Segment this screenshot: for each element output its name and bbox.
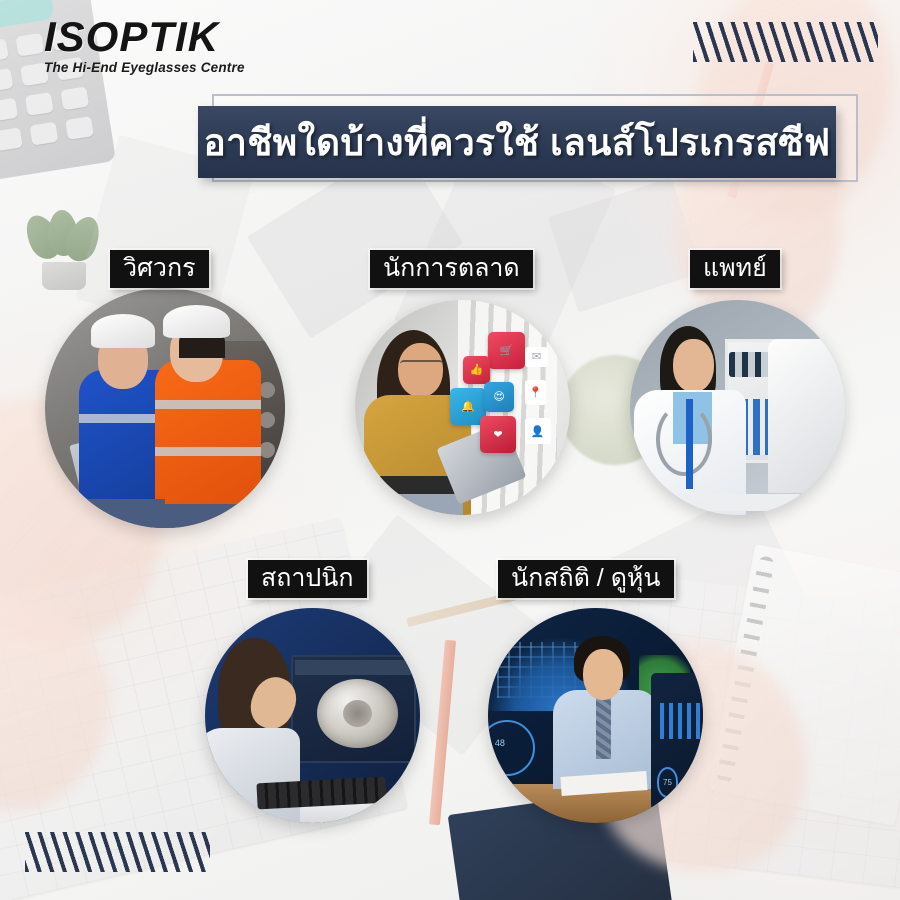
gauge-value: 48 [689, 767, 703, 797]
title-banner: อาชีพใดบ้างที่ควรใช้ เลนส์โปรเกรสซีฟ [198, 98, 858, 186]
profession-photo-marketer[interactable]: 🛒 👍 🔔 😍 ❤ ✉ 📍 👤 [355, 300, 570, 515]
page-title: อาชีพใดบ้างที่ควรใช้ เลนส์โปรเกรสซีฟ [203, 124, 830, 161]
location-pin-icon: 📍 [525, 380, 547, 406]
stethoscope-icon [656, 403, 712, 476]
lanyard [686, 399, 693, 489]
profession-photo-analyst[interactable]: 48 75 48 [488, 608, 703, 823]
gauge-value: 75 [657, 767, 679, 797]
user-icon: 👤 [525, 418, 551, 444]
profession-photo-doctor[interactable] [630, 300, 845, 515]
diagonal-hatch-icon [693, 22, 878, 62]
profession-photo-engineer[interactable] [45, 288, 285, 528]
profession-label-doctor: แพทย์ [690, 250, 780, 288]
banner-fill: อาชีพใดบ้างที่ควรใช้ เลนส์โปรเกรสซีฟ [198, 106, 836, 178]
architect-scene [205, 608, 420, 823]
marketer-scene: 🛒 👍 🔔 😍 ❤ ✉ 📍 👤 [355, 300, 570, 515]
engineer-scene [45, 288, 285, 528]
profession-photo-architect[interactable] [205, 608, 420, 823]
analyst-scene: 48 75 48 [488, 608, 703, 823]
profession-label-marketer: นักการตลาด [370, 250, 533, 288]
emoji-icon: 😍 [484, 382, 514, 412]
thumbs-up-icon: 👍 [463, 356, 491, 384]
profession-label-architect: สถาปนิก [248, 560, 367, 598]
brand-wordmark: ISOPTIK [44, 16, 284, 58]
cart-icon: 🛒 [488, 332, 525, 369]
doctor-scene [630, 300, 845, 515]
mail-icon: ✉ [525, 347, 549, 366]
cad-model-render [317, 679, 399, 748]
dashboard-panel: 75 48 [651, 673, 703, 811]
heart-icon: ❤ [480, 416, 517, 453]
profession-label-analyst: นักสถิติ / ดูหุ้น [498, 560, 674, 598]
brand-logo[interactable]: ISOPTIK The Hi-End Eyeglasses Centre [44, 16, 284, 75]
brand-tagline: The Hi-End Eyeglasses Centre [44, 60, 284, 75]
infographic-poster: ISOPTIK The Hi-End Eyeglasses Centre อาช… [0, 0, 900, 900]
profession-label-engineer: วิศวกร [110, 250, 209, 288]
gauge-value: 48 [495, 738, 505, 748]
diagonal-hatch-icon [25, 832, 210, 872]
